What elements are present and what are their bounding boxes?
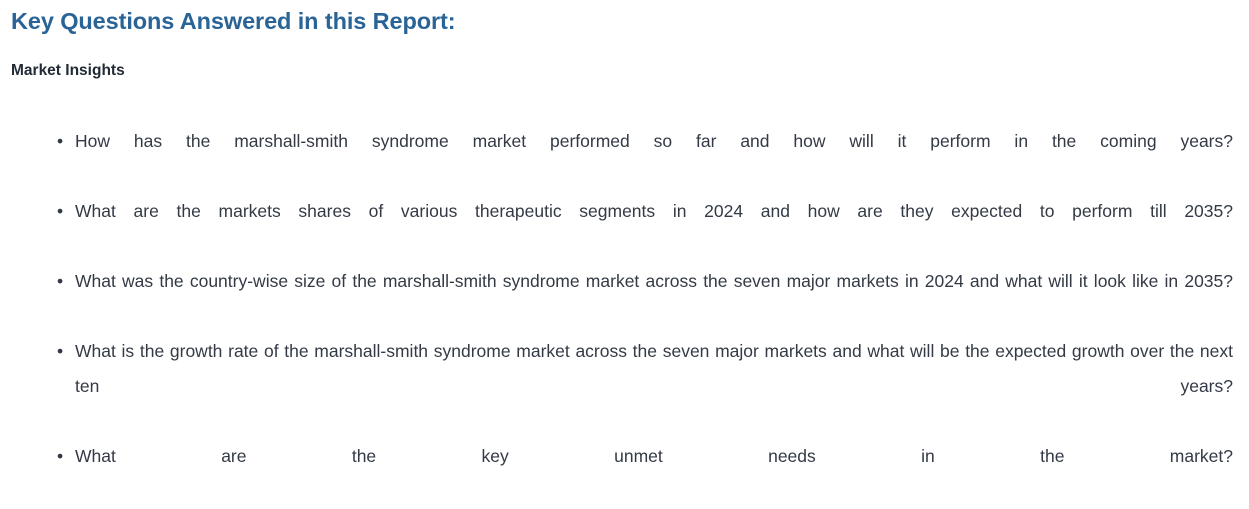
page-title: Key Questions Answered in this Report:: [11, 5, 456, 37]
report-key-questions-page: Key Questions Answered in this Report: M…: [0, 0, 1249, 418]
list-item: • How has the marshall-smith syndrome ma…: [0, 124, 1249, 194]
key-questions-list: • How has the marshall-smith syndrome ma…: [0, 124, 1249, 509]
question-text: What are the markets shares of various t…: [75, 194, 1233, 264]
bullet-icon: •: [57, 334, 67, 369]
list-item: • What is the growth rate of the marshal…: [0, 334, 1249, 439]
question-text: How has the marshall-smith syndrome mark…: [75, 124, 1233, 194]
question-text: What is the growth rate of the marshall-…: [75, 334, 1233, 439]
bullet-icon: •: [57, 439, 67, 474]
bullet-icon: •: [57, 264, 67, 299]
bullet-icon: •: [57, 194, 67, 229]
list-item: • What was the country-wise size of the …: [0, 264, 1249, 334]
question-text: What was the country-wise size of the ma…: [75, 264, 1233, 334]
list-item: • What are the key unmet needs in the ma…: [0, 439, 1249, 509]
market-insights-subheading: Market Insights: [11, 60, 125, 82]
bullet-icon: •: [57, 124, 67, 159]
list-item: • What are the markets shares of various…: [0, 194, 1249, 264]
question-text: What are the key unmet needs in the mark…: [75, 439, 1233, 509]
